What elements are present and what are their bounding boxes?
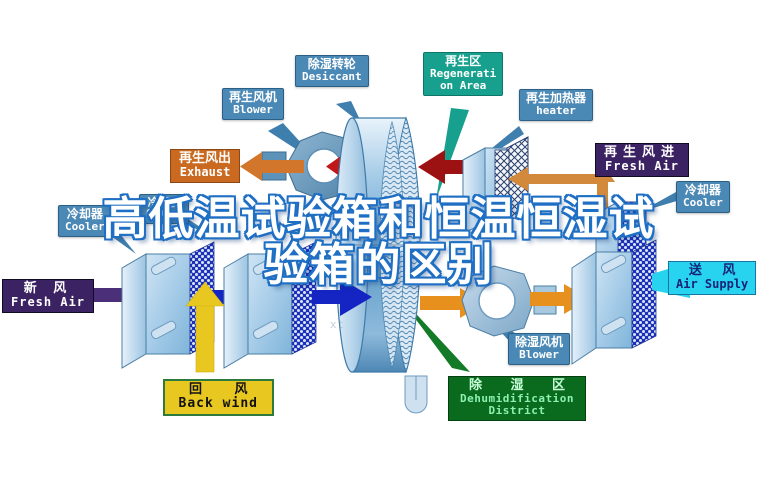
label-en-line2: on Area [430, 80, 496, 92]
label-en: heater [526, 105, 586, 117]
label-cn: 再生风机 [229, 91, 277, 104]
watermark-text: xt [330, 318, 345, 331]
diagram-canvas: 除湿转轮 Desiccant 再生风机 Blower 再生区 Regenerat… [0, 0, 757, 488]
label-cooler-left-upper[interactable]: 冷却器 Cooler [139, 194, 189, 224]
label-en: Fresh Air [11, 296, 85, 309]
desiccant-rotor [336, 118, 420, 372]
condensate-tray [405, 376, 427, 413]
label-cn: 再生加热器 [526, 92, 586, 105]
label-cn: 除 湿 区 [457, 379, 577, 393]
regen-fresh-air-arrow [508, 167, 606, 191]
label-cn: 再生风出 [179, 152, 231, 166]
label-en: Exhaust [179, 166, 231, 179]
heater-coil [463, 137, 528, 234]
label-en: Blower [515, 349, 563, 361]
label-regeneration-fresh-air[interactable]: 再生风进 Fresh Air [595, 143, 689, 177]
label-en: Cooler [683, 197, 723, 209]
supply-coil [572, 240, 656, 364]
label-desiccant-wheel[interactable]: 除湿转轮 Desiccant [295, 55, 369, 87]
label-cooler-right[interactable]: 冷却器 Cooler [676, 181, 730, 213]
label-exhaust[interactable]: 再生风出 Exhaust [170, 149, 240, 183]
label-en: Air Supply [676, 278, 748, 291]
label-cn: 回 风 [175, 383, 262, 397]
label-en: Fresh Air [604, 160, 680, 173]
cooler-coil-left-2 [224, 242, 316, 368]
label-cn: 新 风 [11, 282, 85, 296]
label-cn: 除湿转轮 [302, 58, 362, 71]
label-fresh-air-inlet[interactable]: 新 风 Fresh Air [2, 279, 94, 313]
label-cn: 再生风进 [604, 146, 680, 160]
label-cn: 冷却器 [683, 184, 723, 197]
label-cn: 冷却器 [65, 208, 105, 221]
label-regeneration-area[interactable]: 再生区 Regenerati on Area [423, 52, 503, 96]
label-en: Cooler [146, 209, 182, 220]
label-en: Desiccant [302, 71, 362, 83]
label-en-line2: District [457, 405, 577, 417]
label-en: Cooler [65, 221, 105, 233]
label-back-wind[interactable]: 回 风 Back wind [163, 379, 274, 416]
label-en: Back wind [175, 397, 262, 411]
dehumidifier-schematic [0, 0, 757, 488]
label-regeneration-heater[interactable]: 再生加热器 heater [519, 89, 593, 121]
label-en: Blower [229, 104, 277, 116]
label-cooler-left-lower[interactable]: 冷却器 Cooler [58, 205, 112, 237]
label-air-supply[interactable]: 送 风 Air Supply [668, 261, 756, 295]
label-dehumidification-district[interactable]: 除 湿 区 Dehumidification District [448, 376, 586, 421]
label-cn: 除湿风机 [515, 336, 563, 349]
label-cn: 送 风 [676, 264, 748, 278]
label-cn: 再生区 [430, 55, 496, 68]
label-dehumidification-blower[interactable]: 除湿风机 Blower [508, 333, 570, 365]
label-regeneration-blower[interactable]: 再生风机 Blower [222, 88, 284, 120]
